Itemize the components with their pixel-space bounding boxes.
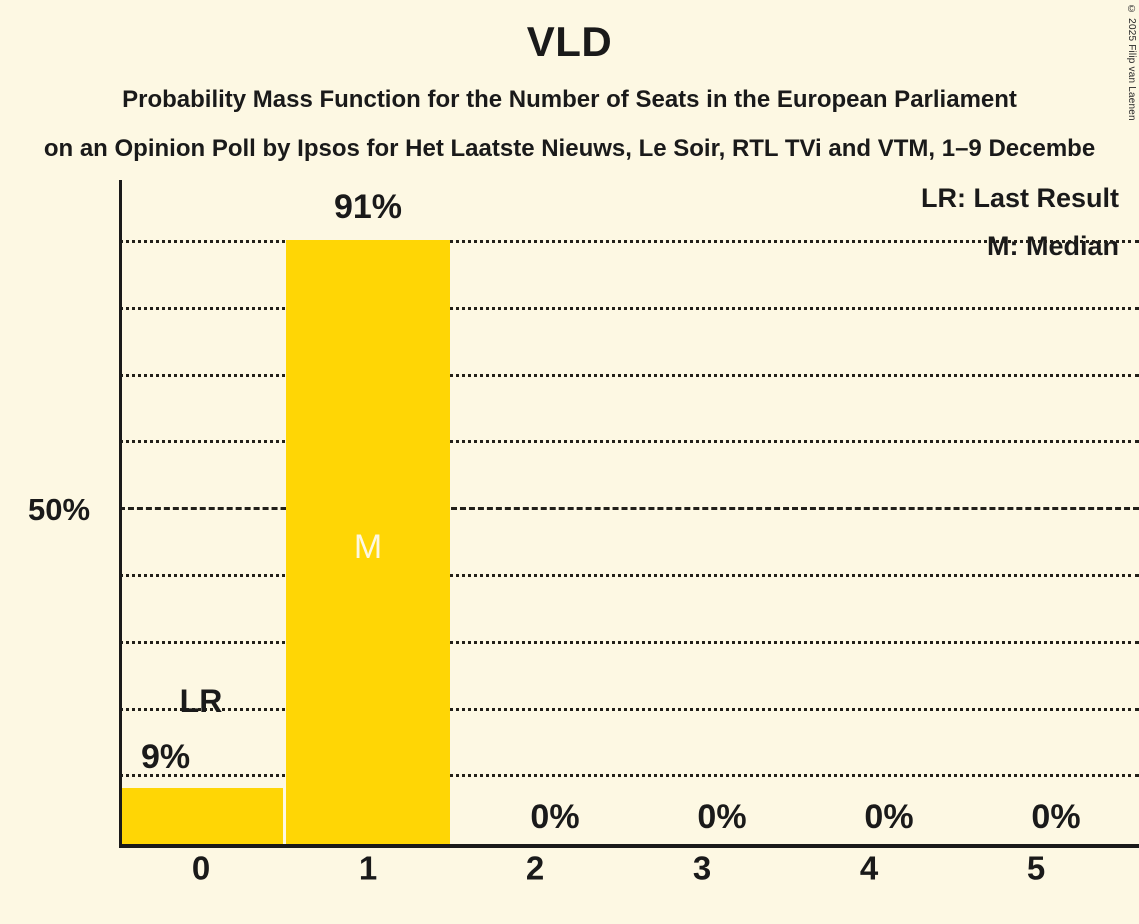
last-result-marker: LR	[141, 685, 261, 717]
bar-label-seat-2: 0%	[475, 800, 635, 834]
gridline-50	[119, 507, 1139, 510]
gridline-40	[119, 574, 1139, 577]
bar-label-seat-0: 9%	[141, 740, 190, 774]
gridline-80	[119, 307, 1139, 310]
page-title: VLD	[0, 21, 1139, 63]
bar-label-seat-3: 0%	[642, 800, 802, 834]
bar-seat-0[interactable]	[119, 788, 283, 848]
median-marker: M	[288, 530, 448, 564]
plot-area: 9% 91% 0% 0% 0% 0% LR M	[119, 180, 1139, 848]
x-tick-label-0: 0	[141, 852, 261, 885]
chart-source-line: on an Opinion Poll by Ipsos for Het Laat…	[44, 137, 1095, 161]
x-tick-label-2: 2	[475, 852, 595, 885]
x-tick-label-3: 3	[642, 852, 762, 885]
gridline-90	[119, 240, 1139, 243]
gridline-30	[119, 641, 1139, 644]
bar-label-seat-5: 0%	[976, 800, 1136, 834]
copyright-notice: © 2025 Filip van Laenen	[1126, 4, 1137, 121]
gridline-10	[119, 774, 1139, 777]
gridline-70	[119, 374, 1139, 377]
gridline-60	[119, 440, 1139, 443]
bar-label-seat-1: 91%	[288, 190, 448, 224]
bar-label-seat-4: 0%	[809, 800, 969, 834]
x-tick-label-4: 4	[809, 852, 929, 885]
x-tick-label-1: 1	[308, 852, 428, 885]
y-axis-tick-label-50: 50%	[28, 494, 90, 525]
x-tick-label-5: 5	[976, 852, 1096, 885]
chart-subtitle: Probability Mass Function for the Number…	[0, 88, 1139, 112]
gridline-20	[119, 708, 1139, 711]
y-axis-line	[119, 180, 122, 848]
x-axis-line	[119, 844, 1139, 848]
